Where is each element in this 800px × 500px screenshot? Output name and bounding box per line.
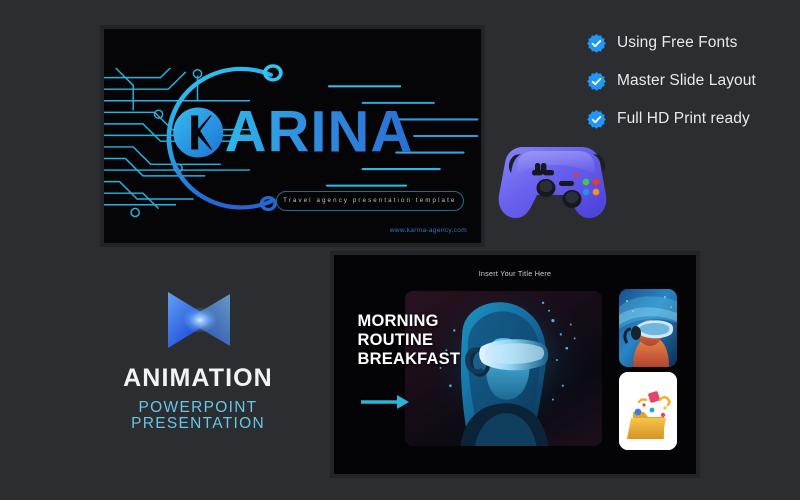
thumbnail-folder[interactable] [619,372,677,450]
animation-play-icon [156,284,240,356]
routine-heading: MORNING ROUTINE BREAKFAST [358,312,461,369]
feature-label: Master Slide Layout [617,72,756,90]
verified-check-icon [586,71,607,92]
feature-row: Full HD Print ready [586,100,786,138]
animation-feature: ANIMATION POWERPOINT PRESENTATION [78,284,318,431]
karina-title-slide[interactable]: ARINA Travel agency presentation templat… [100,25,485,247]
feature-row: Master Slide Layout [586,62,786,100]
gamepad-icon [497,137,615,233]
poster-canvas: ARINA Travel agency presentation templat… [0,0,800,500]
routine-heading-line: ROUTINE [358,331,461,350]
animation-subtitle: POWERPOINT PRESENTATION [78,400,318,431]
verified-check-icon [586,109,607,130]
feature-label: Full HD Print ready [617,110,750,128]
right-arrow-icon [359,392,411,412]
routine-slide-header: Insert Your Title Here [334,269,696,278]
karina-tagline-text: Travel agency presentation template [283,197,456,204]
karina-wordmark: ARINA [172,104,414,162]
karina-url-text: www.karina-agency.com [390,227,467,234]
folder-confetti-icon [619,372,677,450]
routine-slide-content: Insert Your Title Here [334,255,696,474]
thumbnail-vr-headset[interactable] [619,289,677,367]
feature-label: Using Free Fonts [617,34,737,52]
karina-wordmark-text: ARINA [225,104,414,162]
routine-heading-line: BREAKFAST [358,350,461,369]
karina-k-monogram-icon [172,107,224,159]
verified-check-icon [586,33,607,54]
feature-checklist: Using Free Fonts Master Slide Layout Ful… [586,24,786,138]
feature-row: Using Free Fonts [586,24,786,62]
routine-heading-line: MORNING [358,312,461,331]
karina-slide-content: ARINA Travel agency presentation templat… [104,29,481,243]
morning-routine-slide[interactable]: Insert Your Title Here [330,251,700,478]
animation-title: ANIMATION [78,366,318,391]
karina-tagline-pill: Travel agency presentation template [276,191,465,211]
